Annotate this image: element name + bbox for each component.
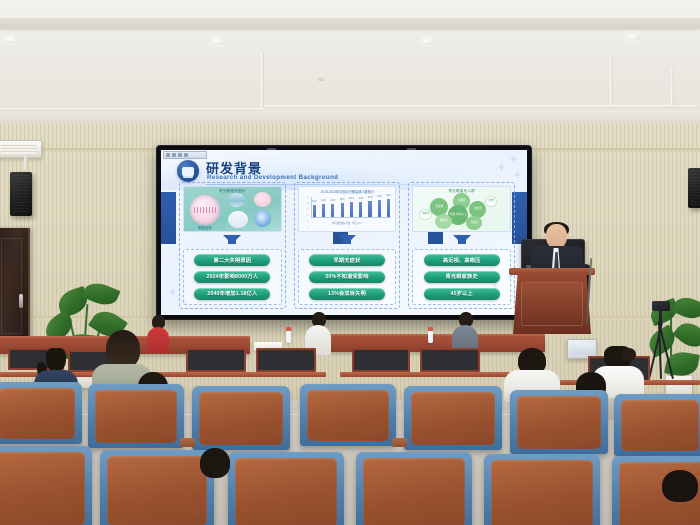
chart-bar: 18.6 [378, 200, 381, 217]
powerpoint-slide[interactable]: 研发背景 Research and Development Background… [161, 150, 527, 315]
down-arrow-wrap [412, 234, 511, 247]
bar-chart: 2015-2023年中国青光眼患病人数统计 25 20 15 10 5 0 13… [303, 195, 393, 225]
audience-member [196, 448, 238, 492]
chart-bar-value: 14.8 [331, 199, 336, 202]
audience-member [452, 312, 478, 352]
chair-armrest [180, 438, 195, 447]
risk-bubble: 高血压 [466, 216, 482, 230]
chart-bar-value: 15.5 [340, 198, 345, 201]
chart-bar-value: 17.8 [368, 196, 373, 199]
eye-thumb-image [228, 211, 248, 228]
figure-caption: 眼部结构 [190, 225, 220, 230]
eye-thumb-image [254, 192, 271, 207]
ac-mount-arm [24, 156, 28, 170]
sparkle-icon: ✛ [498, 164, 505, 172]
chair-seat-back [621, 400, 699, 451]
slide-column-symptoms: 2015-2023年中国青光眼患病人数统计 25 20 15 10 5 0 13… [294, 182, 401, 309]
downlight [4, 36, 20, 43]
chair-seat-back [307, 390, 389, 441]
key-point-pill: 高近视、高眼压 [424, 254, 500, 266]
auditorium-chair[interactable] [404, 386, 502, 450]
desk-modesty-panel [186, 348, 246, 372]
chair-seat-back [199, 392, 283, 445]
chart-bar: 14.8 [331, 204, 334, 217]
arrow-down-icon [223, 235, 241, 244]
key-points-risk-factors: 高近视、高眼压 青光眼家族史 45岁以上 [412, 249, 511, 305]
water-bottle [428, 327, 433, 343]
key-point-pill: 2040年增加1.18亿人 [194, 288, 270, 300]
eye-thumb-image [228, 193, 245, 207]
downlight [210, 38, 226, 45]
entry-door[interactable] [0, 228, 30, 346]
chart-title: 2015-2023年中国青光眼患病人数统计 [303, 189, 393, 194]
key-point-pill: 第二大失明原因 [194, 254, 270, 266]
desk-row-mid [340, 372, 510, 377]
bubble-diagram-panel: 青光眼高危人群 高眼压 高近视 年龄 45岁以上 家族史 糖尿病 用药史 外伤 … [412, 186, 511, 232]
key-point-pill: 50%不知道受影响 [309, 271, 385, 283]
chart-bar-value: 17.0 [358, 197, 363, 200]
podium-front-panel [521, 282, 583, 326]
chart-bar-value: 13.2 [312, 200, 317, 203]
chair-seat-back [235, 458, 337, 525]
key-points-symptoms: 早期无症状 50%不知道受影响 13%会双目失明 [298, 249, 397, 305]
sparkle-icon: ✛ [514, 172, 521, 180]
chair-armrest [392, 438, 407, 447]
y-tick: 20 [306, 203, 308, 205]
save-icon[interactable] [166, 153, 170, 157]
chevron-down-icon[interactable] [184, 153, 188, 157]
eye-thumb-image [254, 210, 271, 227]
ceiling-pipe-riser [610, 53, 613, 105]
sparkle-icon: ✛ [510, 156, 517, 164]
person-hair [46, 348, 66, 372]
slide-columns: 青光眼相关图示 眼部结构 第二大失明原因 2024年影响8000万人 [179, 182, 515, 309]
auditorium-chair[interactable] [192, 386, 290, 450]
desk-modesty-panel [256, 348, 316, 372]
desk-modesty-panel [420, 348, 480, 372]
undo-icon[interactable] [172, 153, 176, 157]
chair-seat-back [491, 460, 593, 525]
person-hair [106, 330, 140, 368]
slide-title-en: Research and Development Background [207, 174, 338, 181]
chart-bar-value: 19.4 [386, 194, 391, 197]
conference-room-photo: 研发背景 Research and Development Background… [0, 0, 700, 525]
auditorium-chair[interactable] [300, 384, 396, 446]
audience-member [660, 470, 700, 525]
chart-bar-value: 18.6 [377, 195, 382, 198]
person-hair [200, 448, 230, 478]
downlight [625, 34, 641, 41]
downlight [420, 38, 436, 45]
auditorium-chair[interactable] [484, 454, 600, 525]
y-tick: 10 [306, 215, 308, 217]
chart-bar-value: 16.3 [349, 197, 354, 200]
wall-speaker-right-icon [688, 168, 700, 208]
chair-seat-back [363, 458, 465, 525]
auditorium-chair[interactable] [0, 446, 92, 525]
ceiling-pipe [0, 108, 265, 111]
down-arrow-wrap [183, 234, 282, 247]
chart-bar: 19.4 [387, 199, 390, 217]
wall-speaker-left-icon [10, 172, 32, 216]
hair-bun [622, 348, 636, 361]
arrow-down-icon [338, 235, 356, 244]
chair-seat-back [95, 390, 177, 443]
risk-bubble: 外伤 [485, 196, 497, 207]
key-point-pill: 45岁以上 [424, 288, 500, 300]
auditorium-chair[interactable] [510, 390, 608, 454]
auditorium-chair[interactable] [228, 452, 344, 525]
chart-bar: 15.5 [341, 203, 344, 217]
chair-seat-back [517, 396, 601, 449]
key-point-pill: 早期无症状 [309, 254, 385, 266]
y-tick: 0 [307, 227, 308, 229]
audience-member [305, 312, 331, 352]
chart-bar: 13.2 [313, 205, 316, 217]
chart-bar: 17.0 [359, 202, 362, 217]
powerpoint-quick-access-toolbar[interactable] [163, 151, 207, 159]
chair-seat-back [107, 456, 207, 525]
chair-seat-back [0, 452, 85, 525]
door-panel [1, 238, 22, 334]
chart-bar: 16.3 [350, 202, 353, 217]
eye-collage-panel: 青光眼相关图示 眼部结构 [183, 186, 282, 232]
arrow-down-icon [453, 235, 471, 244]
down-arrow-wrap [298, 234, 397, 247]
desk-modesty-panel [352, 348, 410, 372]
ceiling [0, 0, 700, 126]
risk-bubble: 糖尿病 [435, 214, 452, 229]
auditorium-chair[interactable] [614, 394, 700, 456]
redo-icon[interactable] [178, 153, 182, 157]
key-points-prevalence: 第二大失明原因 2024年影响8000万人 2040年增加1.18亿人 [183, 249, 282, 305]
slide-column-risk-factors: 青光眼高危人群 高眼压 高近视 年龄 45岁以上 家族史 糖尿病 用药史 外伤 … [408, 182, 515, 309]
key-point-pill: 13%会双目失明 [309, 288, 385, 300]
decor-band-left [161, 192, 176, 244]
auditorium-chair[interactable] [0, 382, 82, 444]
auditorium-chair[interactable] [356, 452, 472, 525]
eye-anatomy-image [190, 195, 220, 225]
key-point-pill: 青光眼家族史 [424, 271, 500, 283]
desk-row-mid [176, 372, 326, 377]
chart-bar: 17.8 [368, 201, 371, 217]
ceiling-beam [0, 18, 700, 29]
key-point-pill: 2024年影响8000万人 [194, 271, 270, 283]
microscope-icon [177, 160, 199, 182]
speaker-podium [513, 272, 591, 334]
door-handle-icon[interactable] [19, 294, 23, 308]
air-conditioner-icon [0, 140, 42, 158]
chair-seat-back [0, 388, 75, 439]
person-hair [662, 470, 698, 502]
sparkle-icon: ✛ [169, 289, 176, 297]
chart-plot-area: 13.214.014.815.516.317.017.818.619.4 [311, 197, 392, 218]
ceiling-pipe [258, 105, 698, 108]
chart-x-axis-label: 青光眼患病人数（百万人） [303, 221, 393, 225]
chair-seat-back [411, 392, 495, 445]
water-bottle [286, 327, 291, 343]
ceiling-pipe-riser [261, 52, 264, 108]
chart-bar: 14.0 [322, 204, 325, 217]
auditorium-chair[interactable] [88, 384, 184, 448]
slide-column-prevalence: 青光眼相关图示 眼部结构 第二大失明原因 2024年影响8000万人 [179, 182, 286, 309]
presentation-display[interactable]: 研发背景 Research and Development Background… [157, 146, 531, 319]
pipe-joint [318, 74, 324, 81]
chart-y-axis: 25 20 15 10 5 0 [303, 197, 310, 218]
bar-chart-panel: 2015-2023年中国青光眼患病人数统计 25 20 15 10 5 0 13… [298, 186, 397, 232]
y-tick: 15 [306, 209, 308, 211]
y-tick: 25 [306, 197, 308, 199]
ceiling-pipe-riser [671, 68, 674, 106]
risk-bubble: 用药史 [419, 209, 432, 220]
chart-bar-value: 14.0 [321, 199, 326, 202]
